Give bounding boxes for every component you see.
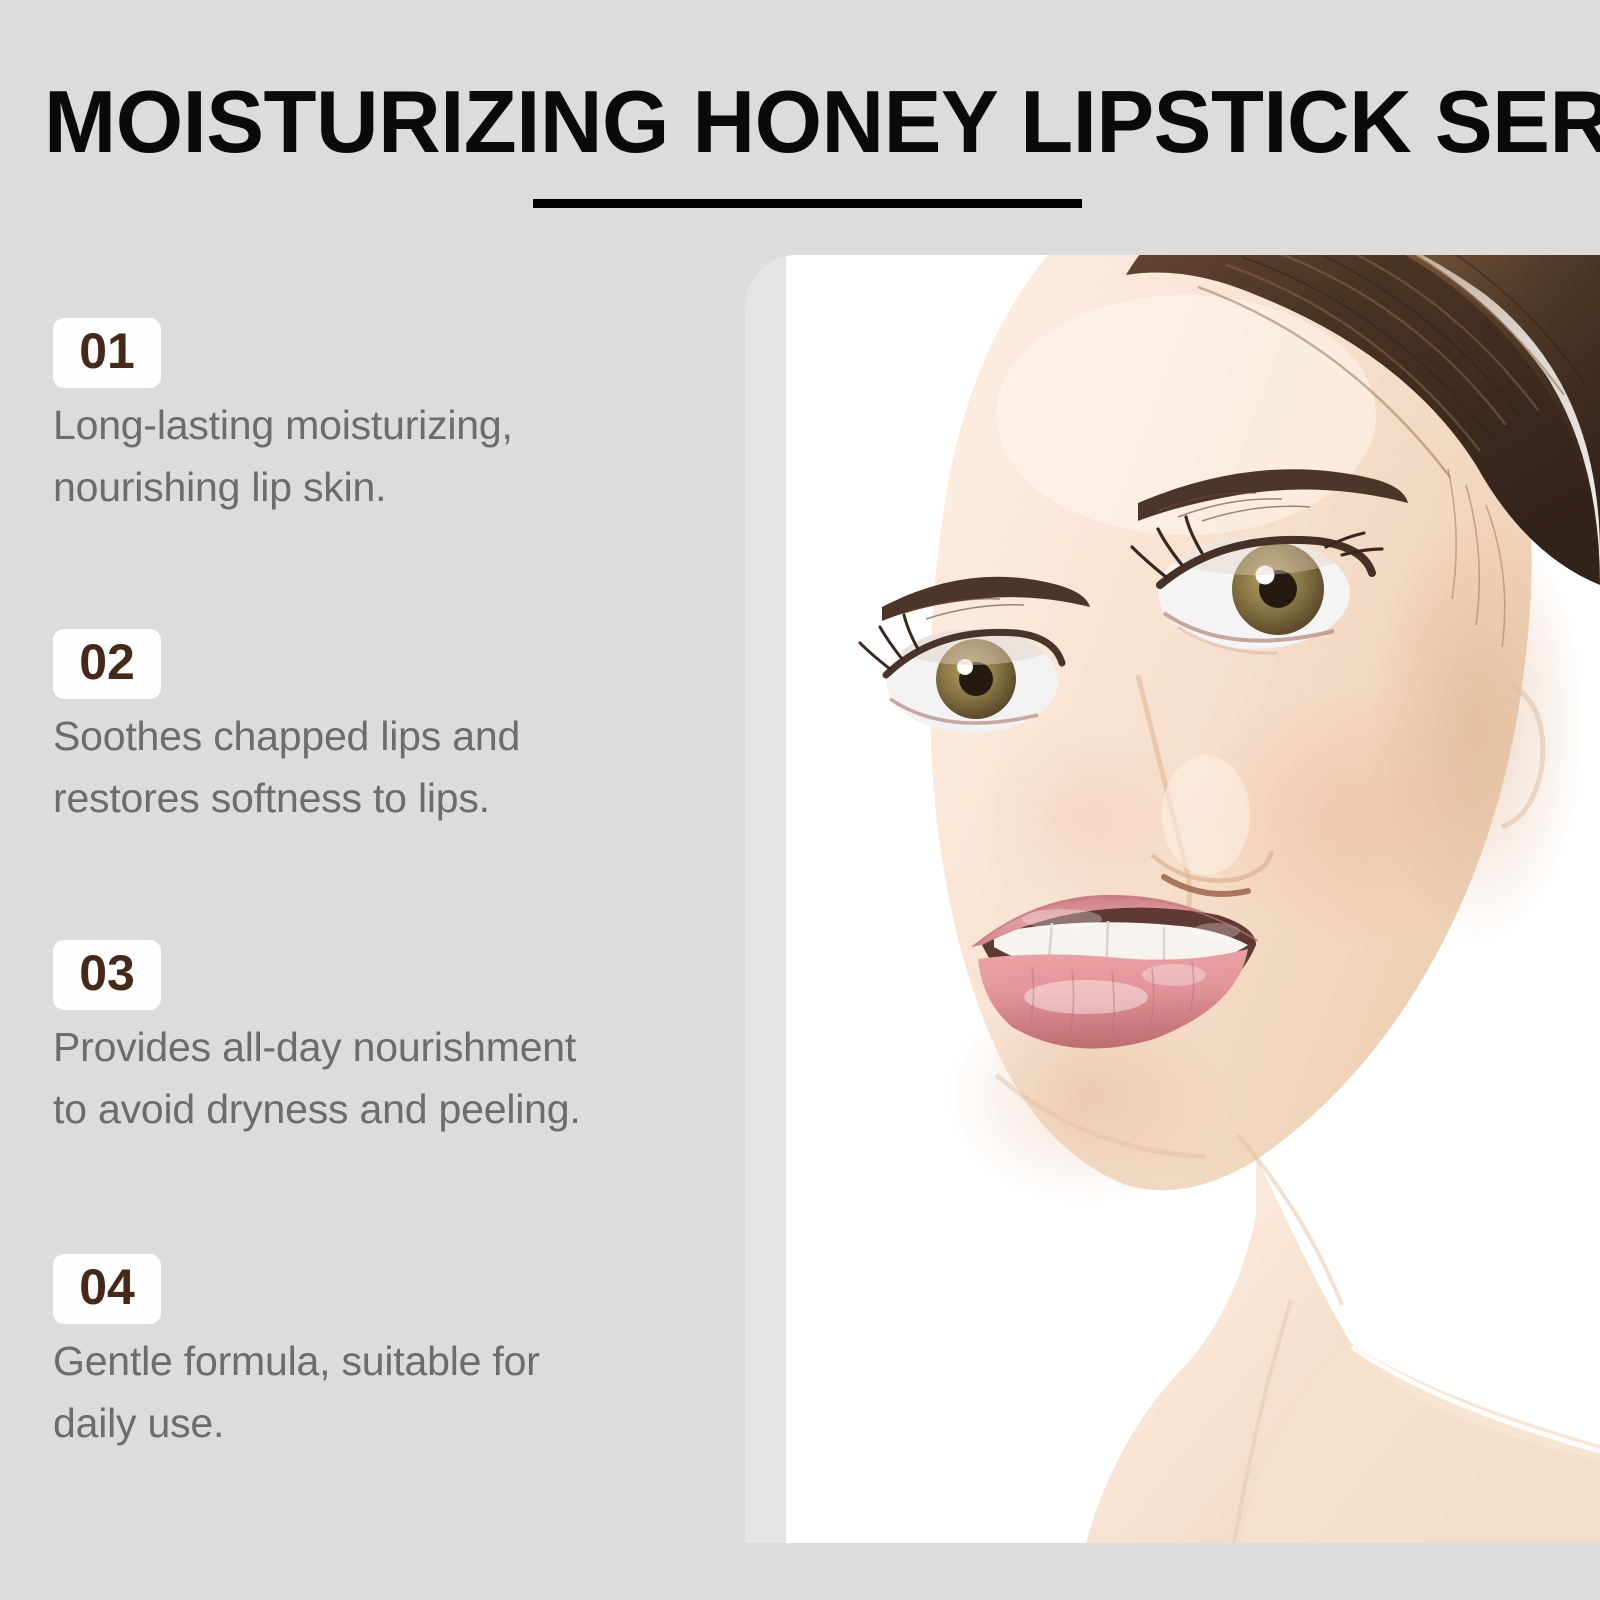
feature-text-01: Long-lasting moisturizing, nourishing li…	[53, 394, 733, 519]
feature-item-02: 02 Soothes chapped lips and restores sof…	[53, 629, 733, 830]
page-title: MOISTURIZING HONEY LIPSTICK SERIES	[44, 78, 1531, 166]
feature-text-04: Gentle formula, suitable for daily use.	[53, 1330, 733, 1455]
feature-item-03: 03 Provides all-day nourishment to avoid…	[53, 940, 733, 1141]
feature-list: 01 Long-lasting moisturizing, nourishing…	[0, 318, 740, 1548]
photo-card	[745, 255, 1600, 1543]
feature-item-01: 01 Long-lasting moisturizing, nourishing…	[53, 318, 733, 519]
feature-number-badge-01: 01	[53, 318, 161, 388]
feature-item-04: 04 Gentle formula, suitable for daily us…	[53, 1254, 733, 1455]
feature-number-badge-02: 02	[53, 629, 161, 699]
feature-number-badge-03: 03	[53, 940, 161, 1010]
model-photo	[786, 255, 1600, 1543]
feature-text-03: Provides all-day nourishment to avoid dr…	[53, 1016, 733, 1141]
feature-number-badge-04: 04	[53, 1254, 161, 1324]
infographic-page: MOISTURIZING HONEY LIPSTICK SERIES 01 Lo…	[0, 0, 1600, 1600]
title-underline-rule	[533, 199, 1082, 208]
model-photo-illustration	[786, 255, 1600, 1543]
feature-text-02: Soothes chapped lips and restores softne…	[53, 705, 733, 830]
